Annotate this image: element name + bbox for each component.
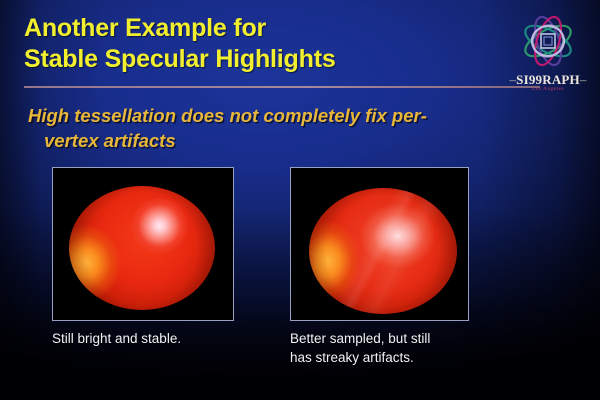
render-panel-right <box>290 167 469 321</box>
rendered-sphere-left <box>69 186 215 310</box>
siggraph-logo-location: Los Angeles <box>505 86 591 92</box>
caption-right: Better sampled, but still has streaky ar… <box>290 329 455 367</box>
caption-left: Still bright and stable. <box>52 329 262 348</box>
logo-wordmark-text: SI99RAPH <box>516 72 580 87</box>
rendered-sphere-right <box>309 188 457 314</box>
subtitle-line-1: High tessellation does not completely fi… <box>28 105 427 126</box>
siggraph-logo: –SI99RAPH– Los Angeles <box>505 10 591 98</box>
presentation-slide: Another Example for Stable Specular High… <box>0 0 600 400</box>
slide-title: Another Example for Stable Specular High… <box>24 13 494 75</box>
subtitle-line-2: vertex artifacts <box>28 128 548 153</box>
title-divider-rule <box>24 86 540 88</box>
slide-subtitle: High tessellation does not completely fi… <box>28 103 548 153</box>
logo-dash-right: – <box>580 72 587 87</box>
render-panel-left <box>52 167 234 321</box>
siggraph-logo-rings-icon <box>505 10 591 76</box>
